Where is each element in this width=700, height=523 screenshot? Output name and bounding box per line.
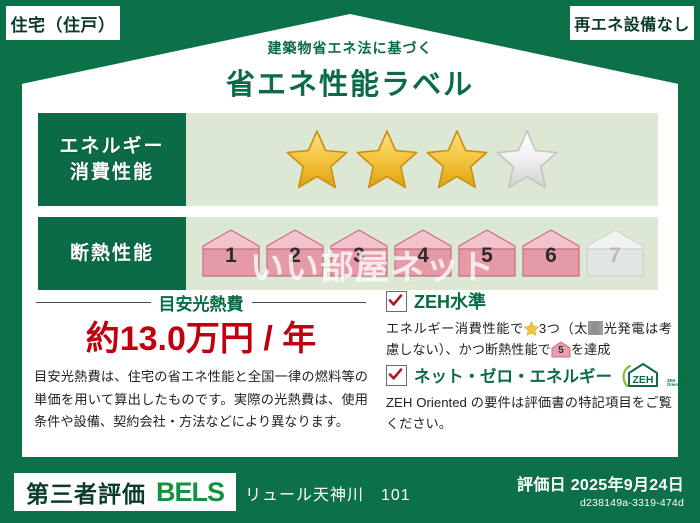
insulation-house-filled: 1 xyxy=(200,228,262,280)
insulation-level-number: 6 xyxy=(520,243,582,267)
building-type-tag: 住宅（住戸） xyxy=(6,6,120,40)
checkbox-checked-icon[interactable] xyxy=(386,365,407,386)
zeh-logo-sub2: Oriented xyxy=(667,383,684,388)
insulation-level-scale: 1234567 xyxy=(186,217,658,290)
insulation-house-empty: 7 xyxy=(584,228,646,280)
zeh-standard-heading: ZEH水準 xyxy=(386,288,672,314)
renewable-equipment-tag: 再エネ設備なし xyxy=(570,6,694,40)
net-zero-energy-title: ネット・ゼロ・エネルギー xyxy=(414,363,612,387)
evaluation-date-value: 2025年9月24日 xyxy=(571,477,684,494)
insulation-performance-label-box: 断熱性能 xyxy=(38,217,186,290)
net-zero-energy-body: ZEH Oriented の要件は評価書の特記項目をご覧ください。 xyxy=(386,392,672,435)
zeh-standard-title: ZEH水準 xyxy=(414,288,486,314)
insulation-house-filled: 6 xyxy=(520,228,582,280)
zeh-body-part1: エネルギー消費性能で xyxy=(386,321,524,336)
evaluation-date: 評価日 2025年9月24日 xyxy=(517,471,684,495)
inline-insulation-house-icon: 5 xyxy=(551,341,571,358)
inline-star-icon xyxy=(524,321,539,336)
zeh-body-star-text: 3つ（太 xyxy=(539,321,588,336)
star-filled-icon xyxy=(285,129,349,191)
insulation-level-number: 7 xyxy=(584,243,646,267)
page-title: 省エネ性能ラベル xyxy=(0,61,700,103)
zeh-standard-section: ZEH水準 エネルギー消費性能で3つ（太光発電は考慮しない）、かつ断熱性能で5を… xyxy=(386,288,672,361)
energy-star-rating xyxy=(186,113,658,206)
bels-en-text: BELS xyxy=(156,477,224,508)
net-zero-energy-heading: ネット・ゼロ・エネルギー ZEH ZEH Oriented xyxy=(386,362,672,388)
insulation-level-number: 2 xyxy=(264,243,326,267)
insulation-level-number: 1 xyxy=(200,243,262,267)
energy-performance-label: 住宅（住戸） 再エネ設備なし 建築物省エネ法に基づく 省エネ性能ラベル エネルギ… xyxy=(0,0,700,523)
energy-label-line2: 消費性能 xyxy=(70,160,154,186)
energy-performance-label-box: エネルギー 消費性能 xyxy=(38,113,186,206)
zeh-oriented-logo-icon: ZEH ZEH Oriented xyxy=(621,362,684,388)
evaluation-id: d238149a-3319-474d xyxy=(517,497,684,509)
checkbox-checked-icon[interactable] xyxy=(386,291,407,312)
insulation-house-filled: 2 xyxy=(264,228,326,280)
energy-label-line1: エネルギー xyxy=(59,134,164,160)
net-zero-energy-section: ネット・ゼロ・エネルギー ZEH ZEH Oriented ZEH Orient… xyxy=(386,362,672,435)
insulation-level-number: 3 xyxy=(328,243,390,267)
estimated-utility-cost-amount: 約13.0万円 / 年 xyxy=(36,311,366,360)
evaluation-info: 評価日 2025年9月24日 d238149a-3319-474d xyxy=(517,471,684,509)
svg-text:ZEH: ZEH xyxy=(633,374,654,386)
insulation-house-filled: 3 xyxy=(328,228,390,280)
zeh-standard-body: エネルギー消費性能で3つ（太光発電は考慮しない）、かつ断熱性能で5を達成 xyxy=(386,318,672,361)
energy-performance-row: エネルギー 消費性能 xyxy=(38,113,658,206)
insulation-label: 断熱性能 xyxy=(70,241,154,267)
label-title-block: 建築物省エネ法に基づく 省エネ性能ラベル xyxy=(0,38,700,103)
zeh-body-part3: を達成 xyxy=(571,342,611,357)
insulation-level-number: 4 xyxy=(392,243,454,267)
divider-left xyxy=(36,302,151,303)
star-empty-icon xyxy=(495,129,559,191)
title-subtitle: 建築物省エネ法に基づく xyxy=(0,38,700,58)
estimated-utility-cost-note: 目安光熱費は、住宅の省エネ性能と全国一律の燃料等の単価を用いて算出したものです。… xyxy=(34,366,368,434)
evaluation-date-label: 評価日 xyxy=(517,477,566,494)
insulation-house-filled: 4 xyxy=(392,228,454,280)
insulation-level-number: 5 xyxy=(456,243,518,267)
inline-house-level: 5 xyxy=(551,343,571,359)
insulation-house-filled: 5 xyxy=(456,228,518,280)
bels-certification-badge: 第三者評価 BELS xyxy=(14,473,236,511)
insulation-performance-row: 断熱性能 1234567 xyxy=(38,217,658,290)
property-name: リュール天神川 101 xyxy=(245,481,411,505)
bels-jp-text: 第三者評価 xyxy=(26,475,146,509)
star-filled-icon xyxy=(355,129,419,191)
star-filled-icon xyxy=(425,129,489,191)
redacted-character xyxy=(588,321,603,335)
divider-right xyxy=(252,302,367,303)
